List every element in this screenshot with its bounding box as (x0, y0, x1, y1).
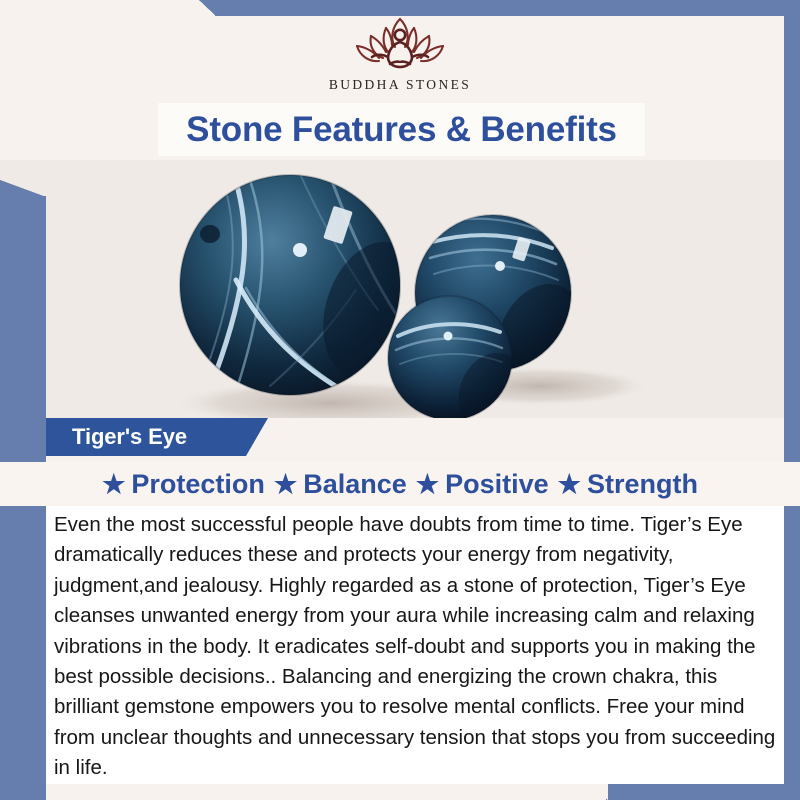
frame-right-border (784, 0, 800, 800)
benefit-label: Strength (587, 469, 698, 500)
stone-features-poster: BUDDHA STONES Stone Features & Benefits (0, 0, 800, 800)
benefit-label: Balance (303, 469, 407, 500)
description-card: Even the most successful people have dou… (46, 506, 784, 784)
benefit-label: Positive (445, 469, 549, 500)
benefit-item-positive: ★ Positive (407, 469, 549, 500)
benefit-item-strength: ★ Strength (549, 469, 698, 500)
lotus-meditation-logo-icon (338, 14, 462, 76)
brand-name: BUDDHA STONES (329, 77, 471, 93)
benefit-item-balance: ★ Balance (265, 469, 407, 500)
star-icon: ★ (274, 471, 297, 497)
benefit-item-protection: ★ Protection (102, 469, 265, 500)
product-name-banner: Tiger's Eye (46, 418, 268, 456)
product-image (0, 160, 800, 418)
star-icon: ★ (416, 471, 439, 497)
page-title-band: Stone Features & Benefits (158, 103, 645, 156)
brand-logo: BUDDHA STONES (0, 14, 800, 100)
benefits-list: ★ Protection ★ Balance ★ Positive ★ Stre… (0, 462, 800, 506)
frame-bottom-notch-bevel (590, 784, 608, 800)
product-name: Tiger's Eye (46, 424, 187, 450)
frame-left-bevel (0, 180, 46, 197)
star-icon: ★ (558, 471, 581, 497)
star-icon: ★ (102, 471, 125, 497)
frame-bottom-notch (46, 784, 606, 800)
tigers-eye-spheres-illustration (0, 160, 800, 418)
page-title: Stone Features & Benefits (186, 110, 617, 150)
benefit-label: Protection (131, 469, 265, 500)
description-text: Even the most successful people have dou… (46, 506, 784, 784)
